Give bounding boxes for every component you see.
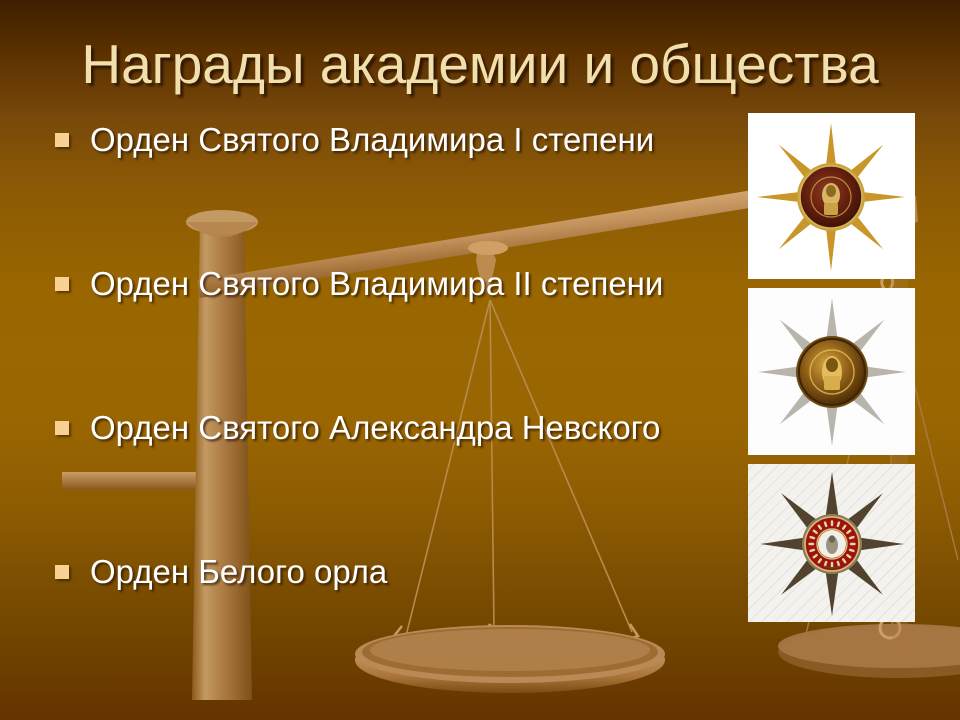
square-bullet-icon bbox=[55, 277, 69, 291]
square-bullet-icon bbox=[55, 133, 69, 147]
list-item-label: Орден Святого Владимира I степени bbox=[90, 120, 654, 160]
slide-canvas: Награды академии и общества Орден Святог… bbox=[0, 0, 960, 720]
square-bullet-icon bbox=[55, 421, 69, 435]
list-item-label: Орден Белого орла bbox=[90, 552, 387, 592]
list-item-label: Орден Святого Владимира II степени bbox=[90, 264, 663, 304]
list-item: Орден Белого орла bbox=[55, 552, 755, 696]
list-item: Орден Святого Владимира I степени bbox=[55, 120, 755, 264]
order-star-gold-image bbox=[748, 113, 915, 279]
list-item-label: Орден Святого Александра Невского bbox=[90, 408, 660, 448]
order-star-silver-image bbox=[748, 288, 915, 455]
bullet-list: Орден Святого Владимира I степени Орден … bbox=[55, 120, 755, 696]
order-star-bronze-image bbox=[748, 464, 915, 622]
list-item: Орден Святого Александра Невского bbox=[55, 408, 755, 552]
list-item: Орден Святого Владимира II степени bbox=[55, 264, 755, 408]
square-bullet-icon bbox=[55, 565, 69, 579]
slide-title: Награды академии и общества bbox=[0, 34, 960, 94]
